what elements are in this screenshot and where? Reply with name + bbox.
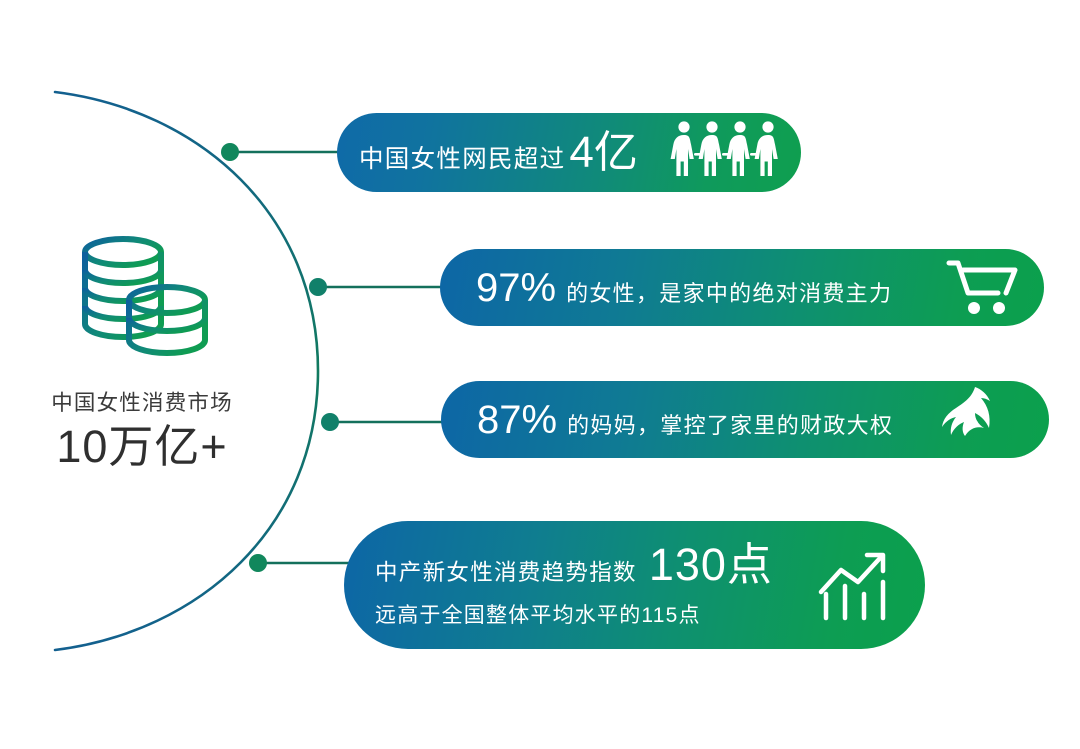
summary-label: 中国女性消费市场 (6, 390, 278, 417)
stat-bar-mothers-finance-control[interactable]: 87% 的妈妈，掌控了家里的财政大权 (441, 381, 1049, 458)
stat-bar-3-text: 87% 的妈妈，掌控了家里的财政大权 (477, 400, 893, 440)
infographic-canvas: 中国女性消费市场 10万亿+ 中国女性网民超过 4亿 (0, 0, 1080, 749)
stat-bar-1-highlight: 4亿 (569, 131, 637, 175)
stat-bar-4-text: 中产新女性消费趋势指数 130点 远高于全国整体平均水平的115点 (375, 542, 773, 629)
four-women-icon (668, 120, 780, 186)
shopping-cart-icon (946, 257, 1020, 319)
node-dot-2 (309, 278, 327, 296)
stat-bar-3-highlight: 87% (477, 400, 557, 440)
node-dot-4 (249, 554, 267, 572)
stat-bar-internet-users[interactable]: 中国女性网民超过 4亿 (337, 113, 801, 192)
growth-chart-icon (817, 546, 901, 624)
market-summary: 中国女性消费市场 10万亿+ (6, 228, 278, 475)
stat-bar-consumption-trend-index[interactable]: 中产新女性消费趋势指数 130点 远高于全国整体平均水平的115点 (344, 521, 925, 649)
stat-bar-female-spending-power[interactable]: 97% 的女性，是家中的绝对消费主力 (440, 249, 1044, 326)
node-dot-3 (321, 413, 339, 431)
stat-bar-3-suffix: 的妈妈，掌控了家里的财政大权 (567, 415, 893, 437)
stat-bar-1-text: 中国女性网民超过 4亿 (359, 131, 638, 175)
coin-stack-icon (67, 228, 217, 368)
stat-bar-2-suffix: 的女性，是家中的绝对消费主力 (566, 283, 892, 305)
stat-bar-2-text: 97% 的女性，是家中的绝对消费主力 (476, 268, 892, 308)
node-dot-1 (221, 143, 239, 161)
mother-child-flame-icon (941, 385, 1003, 455)
summary-value: 10万亿+ (6, 420, 278, 475)
stat-bar-4-highlight: 130点 (649, 542, 773, 587)
stat-bar-1-prefix: 中国女性网民超过 (359, 148, 565, 173)
stat-bar-4-prefix: 中产新女性消费趋势指数 (375, 562, 637, 585)
stat-bar-4-subtext: 远高于全国整体平均水平的115点 (375, 599, 773, 629)
stat-bar-2-highlight: 97% (476, 268, 556, 308)
